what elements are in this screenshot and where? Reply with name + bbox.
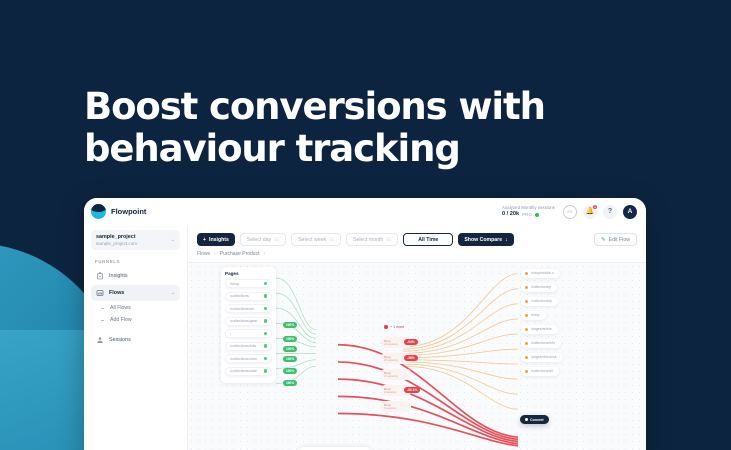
page-label: /collections/gear <box>230 319 257 323</box>
project-name: sample_project <box>96 234 137 240</box>
show-compare-label: Show Compare <box>464 237 502 243</box>
breadcrumb-separator: › <box>214 251 216 257</box>
help-icon[interactable]: ? <box>603 205 617 219</box>
page-title: Boost conversions with behaviour trackin… <box>84 86 644 170</box>
arrow-down-icon: ↓ <box>505 237 508 243</box>
bullet-dot-icon <box>525 418 528 421</box>
insights-button[interactable]: + Insights <box>197 233 235 246</box>
usage-label: Analyzed Monthly sessions <box>502 205 555 210</box>
status-dot <box>525 300 528 303</box>
main-content: + Insights Select day ☷ Select week ☷ Se… <box>188 225 646 450</box>
breadcrumb-item-purchase-product[interactable]: Purchase Product <box>220 251 260 257</box>
drop-sessions: 6 sessions <box>384 407 408 410</box>
select-week-label: Select week <box>298 237 326 243</box>
select-day-button[interactable]: Select day ☷ <box>240 233 286 246</box>
pages-panel[interactable]: Pages /shop /collections /collections/al… <box>221 267 276 383</box>
pencil-icon: ✎ <box>601 237 606 243</box>
project-domain: sample_project.com <box>96 241 137 246</box>
status-dot <box>264 344 267 347</box>
more-paths-chip[interactable]: + 1 more <box>384 325 404 329</box>
sidebar-section-label: FUNNELS <box>95 259 180 264</box>
select-day-label: Select day <box>247 237 271 243</box>
insights-button-label: Insights <box>209 237 229 243</box>
pages-panel-title: Pages <box>225 271 272 276</box>
flow-node[interactable]: /collections/lp <box>521 297 558 306</box>
usage-value: 0 / 20k <box>502 211 519 218</box>
sessions-user-icon <box>96 336 104 344</box>
page-label: /collections/all <box>230 307 254 311</box>
flow-node-label: /pages/article <box>531 327 552 331</box>
page-label: /collections/new <box>230 357 257 361</box>
conversion-pill[interactable]: 100% <box>283 368 297 374</box>
app-topbar: Flowpoint Analyzed Monthly sessions 0 / … <box>84 198 646 225</box>
conversion-pill[interactable]: 100% <box>283 322 297 328</box>
chevron-down-icon: ⌄ <box>171 290 175 296</box>
sidebar-subitem-label: Add Flow <box>110 317 132 323</box>
status-dot <box>525 370 528 373</box>
sidebar-item-label: Flows <box>109 290 124 296</box>
flow-node-label: /collections/all <box>531 369 553 373</box>
chevron-down-icon: ⌄ <box>171 237 175 243</box>
edit-flow-button[interactable]: ✎ Edit Flow <box>594 233 637 246</box>
list-item[interactable]: /collections/all <box>225 304 272 313</box>
flow-node-label: /collections/p <box>531 285 551 289</box>
breadcrumb-separator: › <box>263 251 265 257</box>
page-label: /collections <box>230 294 249 298</box>
breadcrumb: Flows › Purchase Product › <box>188 251 646 263</box>
page-label: /shop <box>230 282 239 286</box>
status-dot <box>525 342 528 345</box>
conversion-pill[interactable]: 100% <box>283 336 297 342</box>
status-dot <box>525 272 528 275</box>
page-label: / <box>230 332 231 336</box>
status-dot <box>525 356 528 359</box>
flowpoint-wave-logo <box>91 204 106 219</box>
sidebar-item-flows[interactable]: Flows ⌄ <box>91 285 180 301</box>
sidebar-item-label: Sessions <box>109 337 131 343</box>
toolbar: + Insights Select day ☷ Select week ☷ Se… <box>188 225 646 251</box>
flow-node-label: /collections/lp <box>531 299 552 303</box>
bullet-dot-icon <box>384 325 388 329</box>
status-dot <box>525 314 528 317</box>
drop-row[interactable]: Drop 12 sessions <box>381 369 411 380</box>
status-dot <box>525 328 528 331</box>
page-label: /collections/sale <box>230 369 257 373</box>
convert-node-label: Convert <box>530 418 544 422</box>
calendar-icon: ☷ <box>386 237 391 243</box>
convert-node[interactable]: Convert <box>520 415 549 424</box>
status-dot <box>264 319 267 322</box>
app-window: Flowpoint Analyzed Monthly sessions 0 / … <box>84 198 646 450</box>
notification-count-badge: 1 <box>592 204 598 210</box>
status-dot <box>264 369 267 372</box>
plus-icon: + <box>203 237 206 243</box>
drop-pill[interactable]: -38% <box>404 355 418 361</box>
sidebar-item-sessions[interactable]: Sessions <box>91 332 180 348</box>
flow-node[interactable]: /pages/checkout <box>521 353 563 362</box>
flow-node[interactable]: /shop/middle-x <box>521 269 560 278</box>
flow-node[interactable]: /collections/info <box>521 339 561 348</box>
calendar-icon: ☷ <box>329 237 334 243</box>
flow-node[interactable]: /shop <box>521 311 546 320</box>
drop-pill[interactable]: -54% <box>404 339 418 345</box>
sidebar-item-add-flow[interactable]: Add Flow <box>91 314 180 326</box>
list-item[interactable]: /collections/new <box>225 354 272 363</box>
list-item[interactable]: / <box>225 329 272 338</box>
conversion-pill[interactable]: 100% <box>283 346 297 352</box>
drop-row[interactable]: Drop 6 sessions <box>381 401 411 412</box>
brand[interactable]: Flowpoint <box>91 204 191 219</box>
topbar-right: Analyzed Monthly sessions 0 / 20k PRO 0%… <box>502 205 637 219</box>
status-dot <box>264 282 267 285</box>
list-item[interactable]: /collections/info <box>225 342 272 351</box>
flow-node-label: /shop/middle-x <box>531 271 554 275</box>
notifications-bell-icon[interactable]: 🔔 1 <box>583 205 597 219</box>
show-compare-button[interactable]: Show Compare ↓ <box>458 233 513 246</box>
status-dot <box>264 294 267 297</box>
brand-name: Flowpoint <box>111 207 146 216</box>
status-dot <box>264 307 267 310</box>
select-month-label: Select month <box>353 237 383 243</box>
sidebar-item-label: Insights <box>109 273 128 279</box>
conversion-pill[interactable]: 100% <box>283 380 297 386</box>
status-dot <box>264 332 267 335</box>
usage-summary: Analyzed Monthly sessions 0 / 20k PRO <box>502 205 555 218</box>
list-item[interactable]: /collections/gear <box>225 317 272 326</box>
plan-status-dot <box>535 213 539 217</box>
select-week-button[interactable]: Select week ☷ <box>291 233 341 246</box>
page-label: /collections/info <box>230 344 256 348</box>
usage-gauge-icon[interactable]: 0% <box>563 205 577 219</box>
edit-flow-label: Edit Flow <box>609 237 630 243</box>
user-avatar[interactable]: A <box>623 205 637 219</box>
flow-canvas[interactable]: Pages /shop /collections /collections/al… <box>188 263 646 450</box>
select-month-button[interactable]: Select month ☷ <box>346 233 398 246</box>
list-item[interactable]: /shop <box>225 279 272 288</box>
flow-node[interactable]: /pages/article <box>521 325 558 334</box>
bullet-dash-icon <box>101 320 104 321</box>
sidebar: sample_project sample_project.com ⌄ FUNN… <box>84 225 188 450</box>
flows-chart-icon <box>96 289 104 297</box>
all-time-label: All Time <box>418 237 438 243</box>
sidebar-item-all-flows[interactable]: All Flows <box>91 302 180 314</box>
flow-node[interactable]: /collections/p <box>521 283 557 292</box>
all-time-button[interactable]: All Time <box>403 233 453 246</box>
drop-sessions: 12 sessions <box>384 375 408 378</box>
list-item[interactable]: /collections <box>225 292 272 301</box>
insights-icon <box>96 272 104 280</box>
flow-node-label: /pages/checkout <box>531 355 557 359</box>
drop-pill[interactable]: -60.1% <box>404 387 420 393</box>
sidebar-item-insights[interactable]: Insights <box>91 268 180 284</box>
more-paths-label: + 1 more <box>390 325 404 329</box>
status-dot <box>525 286 528 289</box>
flow-node-label: /shop <box>531 313 540 317</box>
flow-node-label: /collections/info <box>531 341 555 345</box>
plan-badge: PRO <box>522 212 532 217</box>
project-selector[interactable]: sample_project sample_project.com ⌄ <box>91 230 180 250</box>
flow-node[interactable]: /collections/all <box>521 367 559 376</box>
status-dot <box>264 357 267 360</box>
list-item[interactable]: /collections/sale <box>225 367 272 376</box>
calendar-icon: ☷ <box>274 237 279 243</box>
conversion-pill[interactable]: 100% <box>283 356 297 362</box>
breadcrumb-item-flows[interactable]: Flows <box>197 251 210 257</box>
bullet-dash-icon <box>101 308 104 309</box>
sidebar-subitem-label: All Flows <box>110 305 131 311</box>
